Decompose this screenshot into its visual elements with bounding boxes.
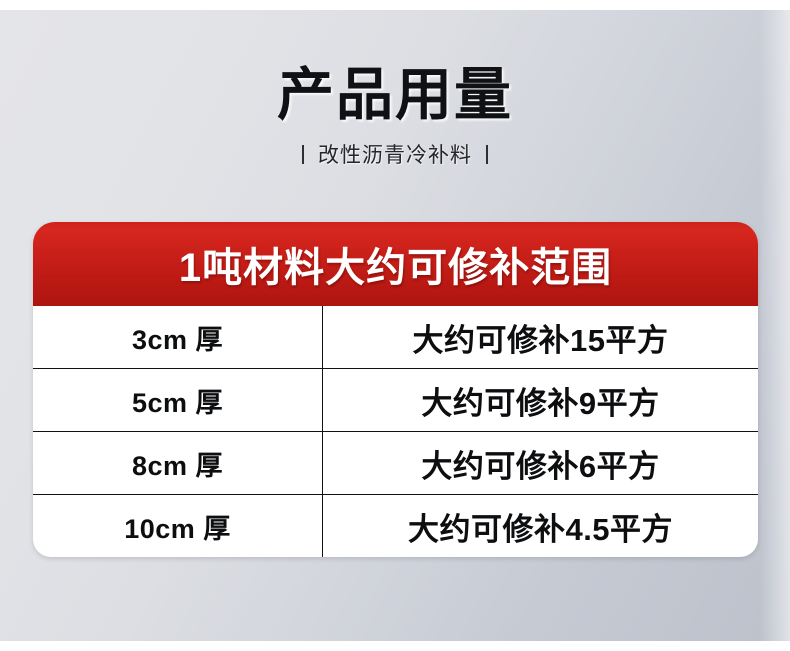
table-row: 3cm 厚 大约可修补15平方 [33, 306, 758, 369]
area-value: 大约可修补4.5平方 [408, 504, 673, 549]
thickness-cell: 5cm 厚 [33, 369, 323, 431]
thickness-cell: 10cm 厚 [33, 495, 323, 557]
thickness-cell: 8cm 厚 [33, 432, 323, 494]
product-usage-infographic: 产品用量 改性沥青冷补料 1吨材料大约可修补范围 3cm 厚 大约可修补15平方 [0, 0, 790, 651]
usage-table: 3cm 厚 大约可修补15平方 5cm 厚 大约可修补9平方 8cm 厚 [33, 306, 758, 557]
thickness-value: 3cm 厚 [132, 318, 223, 357]
table-row: 5cm 厚 大约可修补9平方 [33, 369, 758, 432]
area-cell: 大约可修补6平方 [323, 432, 758, 494]
banner-header: 1吨材料大约可修补范围 [33, 222, 758, 306]
vertical-bar-left-icon [302, 145, 304, 164]
vertical-bar-right-icon [486, 145, 488, 164]
area-value: 大约可修补9平方 [421, 378, 659, 423]
area-cell: 大约可修补15平方 [323, 306, 758, 368]
area-cell: 大约可修补9平方 [323, 369, 758, 431]
thickness-value: 5cm 厚 [132, 381, 223, 420]
usage-card: 1吨材料大约可修补范围 3cm 厚 大约可修补15平方 5cm 厚 大约可修补9… [33, 222, 758, 557]
thickness-value: 10cm 厚 [124, 507, 231, 546]
thickness-cell: 3cm 厚 [33, 306, 323, 368]
subtitle-row: 改性沥青冷补料 [0, 139, 790, 169]
banner-title: 1吨材料大约可修补范围 [179, 235, 612, 293]
area-value: 大约可修补6平方 [421, 441, 659, 486]
page-title: 产品用量 [0, 62, 790, 128]
area-cell: 大约可修补4.5平方 [323, 495, 758, 557]
table-row: 8cm 厚 大约可修补6平方 [33, 432, 758, 495]
header-block: 产品用量 改性沥青冷补料 [0, 62, 790, 169]
thickness-value: 8cm 厚 [132, 444, 223, 483]
page-subtitle: 改性沥青冷补料 [318, 139, 472, 169]
area-value: 大约可修补15平方 [413, 315, 669, 360]
table-row: 10cm 厚 大约可修补4.5平方 [33, 495, 758, 557]
